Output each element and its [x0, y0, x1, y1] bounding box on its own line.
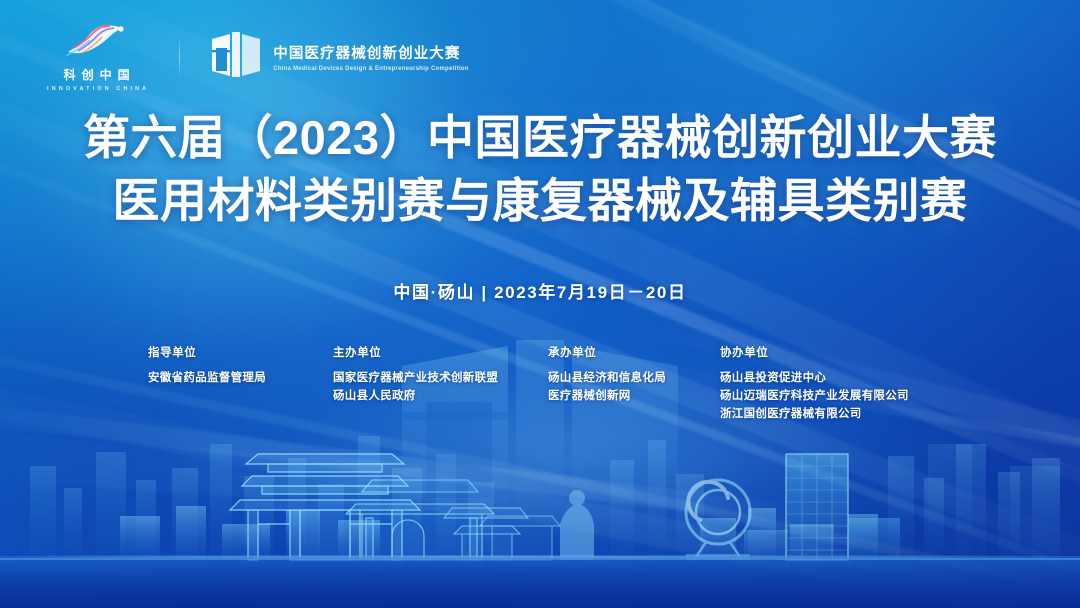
- header-logos: 科创中国 INNOVATION CHINA 中国医疗器械创新创业大赛 China…: [44, 22, 469, 92]
- title-line-1: 第六届（2023）中国医疗器械创新创业大赛: [0, 106, 1080, 169]
- organizer-heading: 协办单位: [720, 344, 909, 360]
- organizer-columns: 指导单位 安徽省药品监督管理局 主办单位 国家医疗器械产业技术创新联盟 砀山县人…: [148, 344, 978, 423]
- organizer-item: 砀山迈瑞医疗科技产业发展有限公司: [720, 387, 909, 405]
- water-horizon-line: [0, 556, 1080, 558]
- organizer-item: 浙江国创医疗器械有限公司: [720, 405, 909, 423]
- event-location-date: 中国·砀山 | 2023年7月19日－20日: [0, 278, 1080, 303]
- organizer-item: 医疗器械创新网: [548, 387, 720, 405]
- innovation-china-bird-icon: [64, 22, 130, 63]
- poster-canvas: 科创中国 INNOVATION CHINA 中国医疗器械创新创业大赛 China…: [0, 0, 1080, 608]
- competition-cn-label: 中国医疗器械创新创业大赛: [273, 42, 468, 63]
- poster-title: 第六届（2023）中国医疗器械创新创业大赛 医用材料类别赛与康复器械及辅具类别赛: [0, 106, 1080, 232]
- organizer-column-organizer: 承办单位 砀山县经济和信息化局 医疗器械创新网: [548, 344, 720, 423]
- competition-en-label: China Medical Devices Design & Entrepren…: [273, 66, 468, 72]
- logo-innovation-china: 科创中国 INNOVATION CHINA: [44, 22, 149, 92]
- water-reflection-grid: [0, 556, 1080, 608]
- organizer-heading: 主办单位: [333, 344, 548, 360]
- logo-divider: [179, 35, 180, 79]
- organizer-item: 砀山县经济和信息化局: [548, 369, 720, 387]
- organizer-heading: 承办单位: [548, 344, 720, 360]
- organizer-item: 砀山县投资促进中心: [720, 369, 909, 387]
- logo-competition: 中国医疗器械创新创业大赛 China Medical Devices Desig…: [210, 32, 468, 83]
- innovation-china-cn-label: 科创中国: [58, 66, 136, 83]
- innovation-china-en-label: INNOVATION CHINA: [44, 86, 149, 92]
- organizer-column-coorganizer: 协办单位 砀山县投资促进中心 砀山迈瑞医疗科技产业发展有限公司 浙江国创医疗器械…: [720, 344, 909, 423]
- organizer-item: 国家医疗器械产业技术创新联盟: [333, 369, 548, 387]
- organizer-column-host: 主办单位 国家医疗器械产业技术创新联盟 砀山县人民政府: [333, 344, 548, 423]
- open-door-competition-icon: [210, 32, 262, 83]
- organizer-heading: 指导单位: [148, 344, 333, 360]
- title-line-2: 医用材料类别赛与康复器械及辅具类别赛: [0, 169, 1080, 232]
- organizer-column-guidance: 指导单位 安徽省药品监督管理局: [148, 344, 333, 423]
- organizer-item: 砀山县人民政府: [333, 387, 548, 405]
- organizer-item: 安徽省药品监督管理局: [148, 369, 333, 387]
